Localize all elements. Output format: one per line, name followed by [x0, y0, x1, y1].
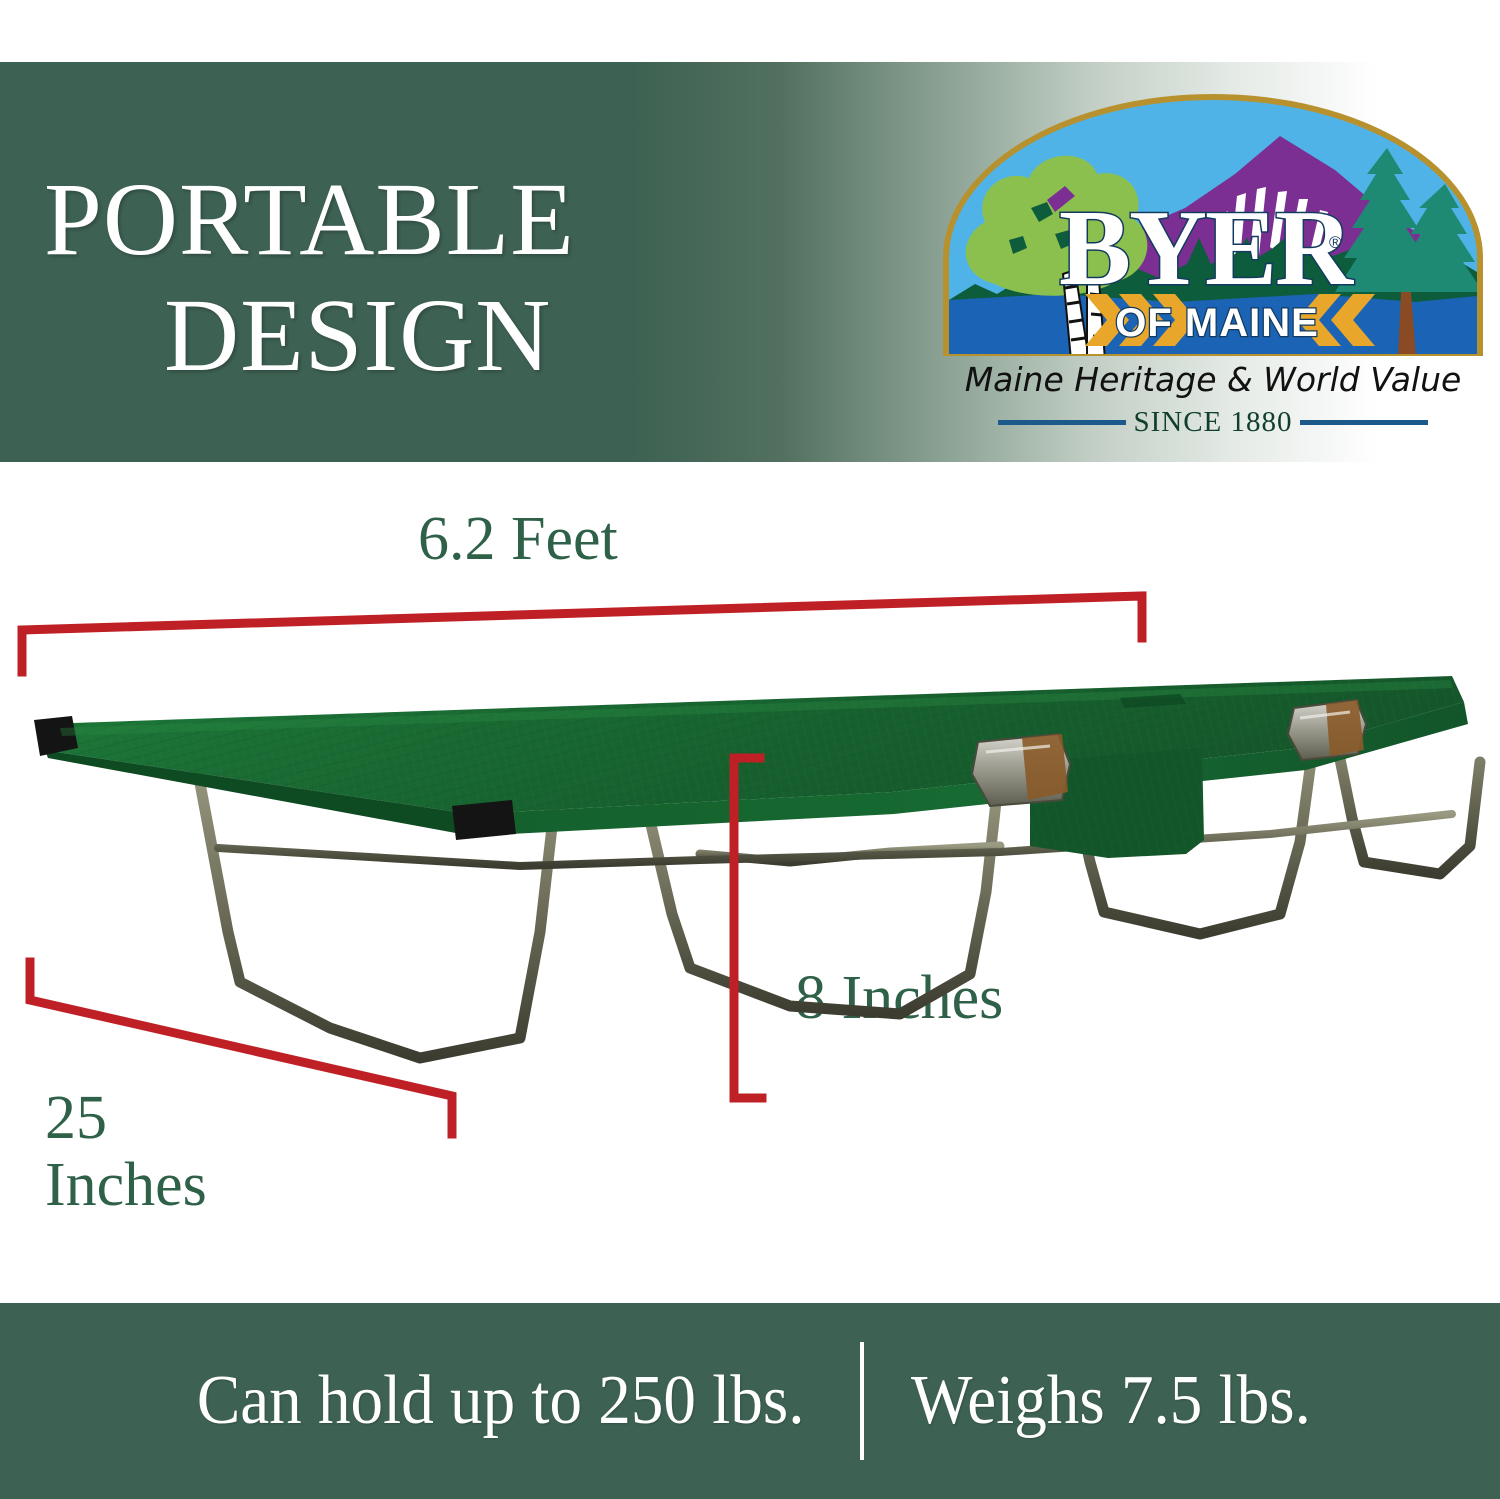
- since-rule-left: [998, 420, 1126, 425]
- weight-text: Weighs 7.5 lbs.: [911, 1361, 1311, 1441]
- logo-since-text: SINCE 1880: [1133, 406, 1292, 439]
- since-rule-right: [1300, 420, 1428, 425]
- logo-tagline: Maine Heritage & World Value: [935, 360, 1491, 399]
- bracket-left: [972, 734, 1070, 806]
- page-title-line1: PORTABLE: [44, 162, 575, 277]
- product-photo-camp-cot: [0, 462, 1500, 1303]
- capacity-text: Can hold up to 250 lbs.: [197, 1361, 805, 1441]
- product-infographic: PORTABLE DESIGN: [0, 0, 1500, 1499]
- logo-subbrand-text: OF MAINE: [1115, 301, 1319, 345]
- bracket-length: [22, 596, 1142, 672]
- logo-trademark-symbol: ®: [1329, 233, 1342, 252]
- logo-badge-illustration: BYER ® OF MAINE: [935, 88, 1491, 360]
- banner-divider: [860, 1342, 864, 1460]
- byer-of-maine-logo: BYER ® OF MAINE Maine Heritage & World V…: [935, 88, 1491, 438]
- page-title-line2: DESIGN: [164, 278, 924, 394]
- logo-brand-text: BYER: [1059, 189, 1354, 308]
- spec-banner: Can hold up to 250 lbs. Weighs 7.5 lbs.: [0, 1303, 1500, 1499]
- corner-cap-front: [452, 800, 516, 840]
- bracket-right: [1288, 700, 1366, 760]
- logo-since-row: SINCE 1880: [935, 406, 1491, 439]
- page-title: PORTABLE DESIGN: [44, 162, 924, 395]
